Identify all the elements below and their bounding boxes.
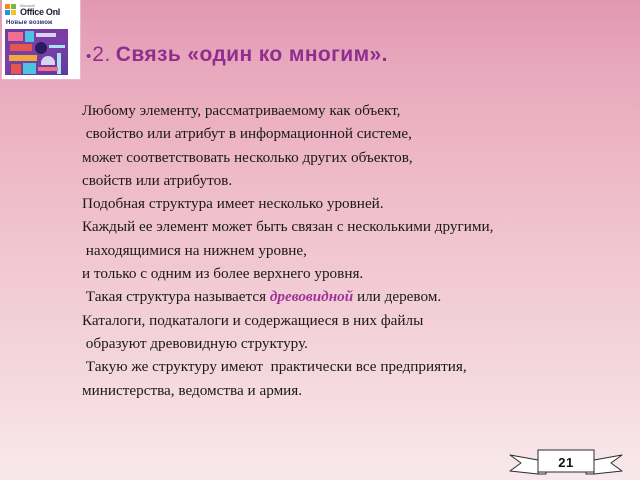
office-logo: Microsoft Office Onl <box>5 3 60 17</box>
title-number: 2. <box>92 43 111 67</box>
body-line: образуют древовидную структуру. <box>82 332 622 355</box>
office-illustration-thumbnail <box>5 29 68 75</box>
body-line: министерства, ведомства и армия. <box>82 379 622 402</box>
body-line: находящимися на нижнем уровне, <box>82 239 622 262</box>
body-line: Каталоги, подкаталоги и содержащиеся в н… <box>82 309 622 332</box>
office-product-label: Office Onl <box>20 8 60 17</box>
page-number: 21 <box>508 447 624 479</box>
body-line: Такая структура называется древовидной и… <box>82 285 622 308</box>
body-line: свойство или атрибут в информационной си… <box>82 122 622 145</box>
body-line: Подобная структура имеет несколько уровн… <box>82 192 622 215</box>
office-four-squares-icon <box>5 4 18 17</box>
office-tagline: Новые возмож <box>6 19 52 27</box>
slide-body: Любому элементу, рассматриваемому как об… <box>82 99 622 402</box>
body-line: Такую же структуру имеют практически все… <box>82 355 622 378</box>
body-text-run: или деревом. <box>353 288 441 305</box>
slide-title: • 2. Связь «один ко многим». <box>86 43 606 67</box>
office-online-banner: Microsoft Office Onl Новые возмож <box>2 0 81 80</box>
body-text-run: Такая структура называется <box>82 288 270 305</box>
office-logo-text: Microsoft Office Onl <box>20 4 60 17</box>
body-line: может соответствовать несколько других о… <box>82 146 622 169</box>
presentation-slide: Microsoft Office Onl Новые возмож • 2. С… <box>0 0 640 480</box>
title-text: Связь «один ко многим». <box>116 43 388 67</box>
page-number-ribbon: 21 <box>508 447 624 479</box>
body-line: Каждый ее элемент может быть связан с не… <box>82 215 622 238</box>
title-bullet-icon: • <box>86 49 91 64</box>
body-line: Любому элементу, рассматриваемому как об… <box>82 99 622 122</box>
emphasized-term: древовидной <box>270 288 353 305</box>
body-line: и только с одним из более верхнего уровн… <box>82 262 622 285</box>
body-line: свойств или атрибутов. <box>82 169 622 192</box>
